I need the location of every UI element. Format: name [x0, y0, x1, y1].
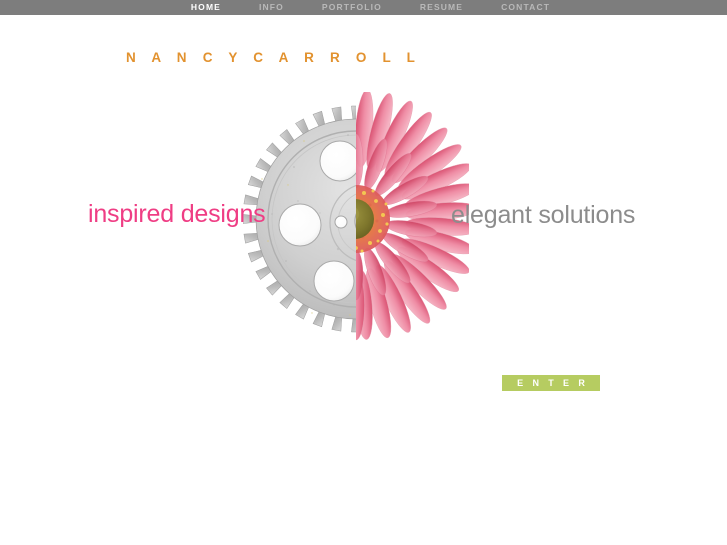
nav-list: HOME INFO PORTFOLIO RESUME CONTACT [177, 0, 550, 15]
enter-button[interactable]: E N T E R [502, 375, 600, 391]
nav-item-contact[interactable]: CONTACT [501, 0, 550, 15]
site-name-heading: N A N C Y C A R R O L L [126, 50, 421, 65]
gear-flower-composite-image [243, 92, 469, 346]
nav-item-resume[interactable]: RESUME [420, 0, 463, 15]
nav-item-home[interactable]: HOME [191, 0, 221, 15]
nav-item-portfolio[interactable]: PORTFOLIO [322, 0, 382, 15]
top-navigation-bar: HOME INFO PORTFOLIO RESUME CONTACT [0, 0, 727, 15]
tagline-right: elegant solutions [451, 203, 635, 228]
tagline-left: inspired designs [88, 202, 265, 227]
nav-item-info[interactable]: INFO [259, 0, 284, 15]
